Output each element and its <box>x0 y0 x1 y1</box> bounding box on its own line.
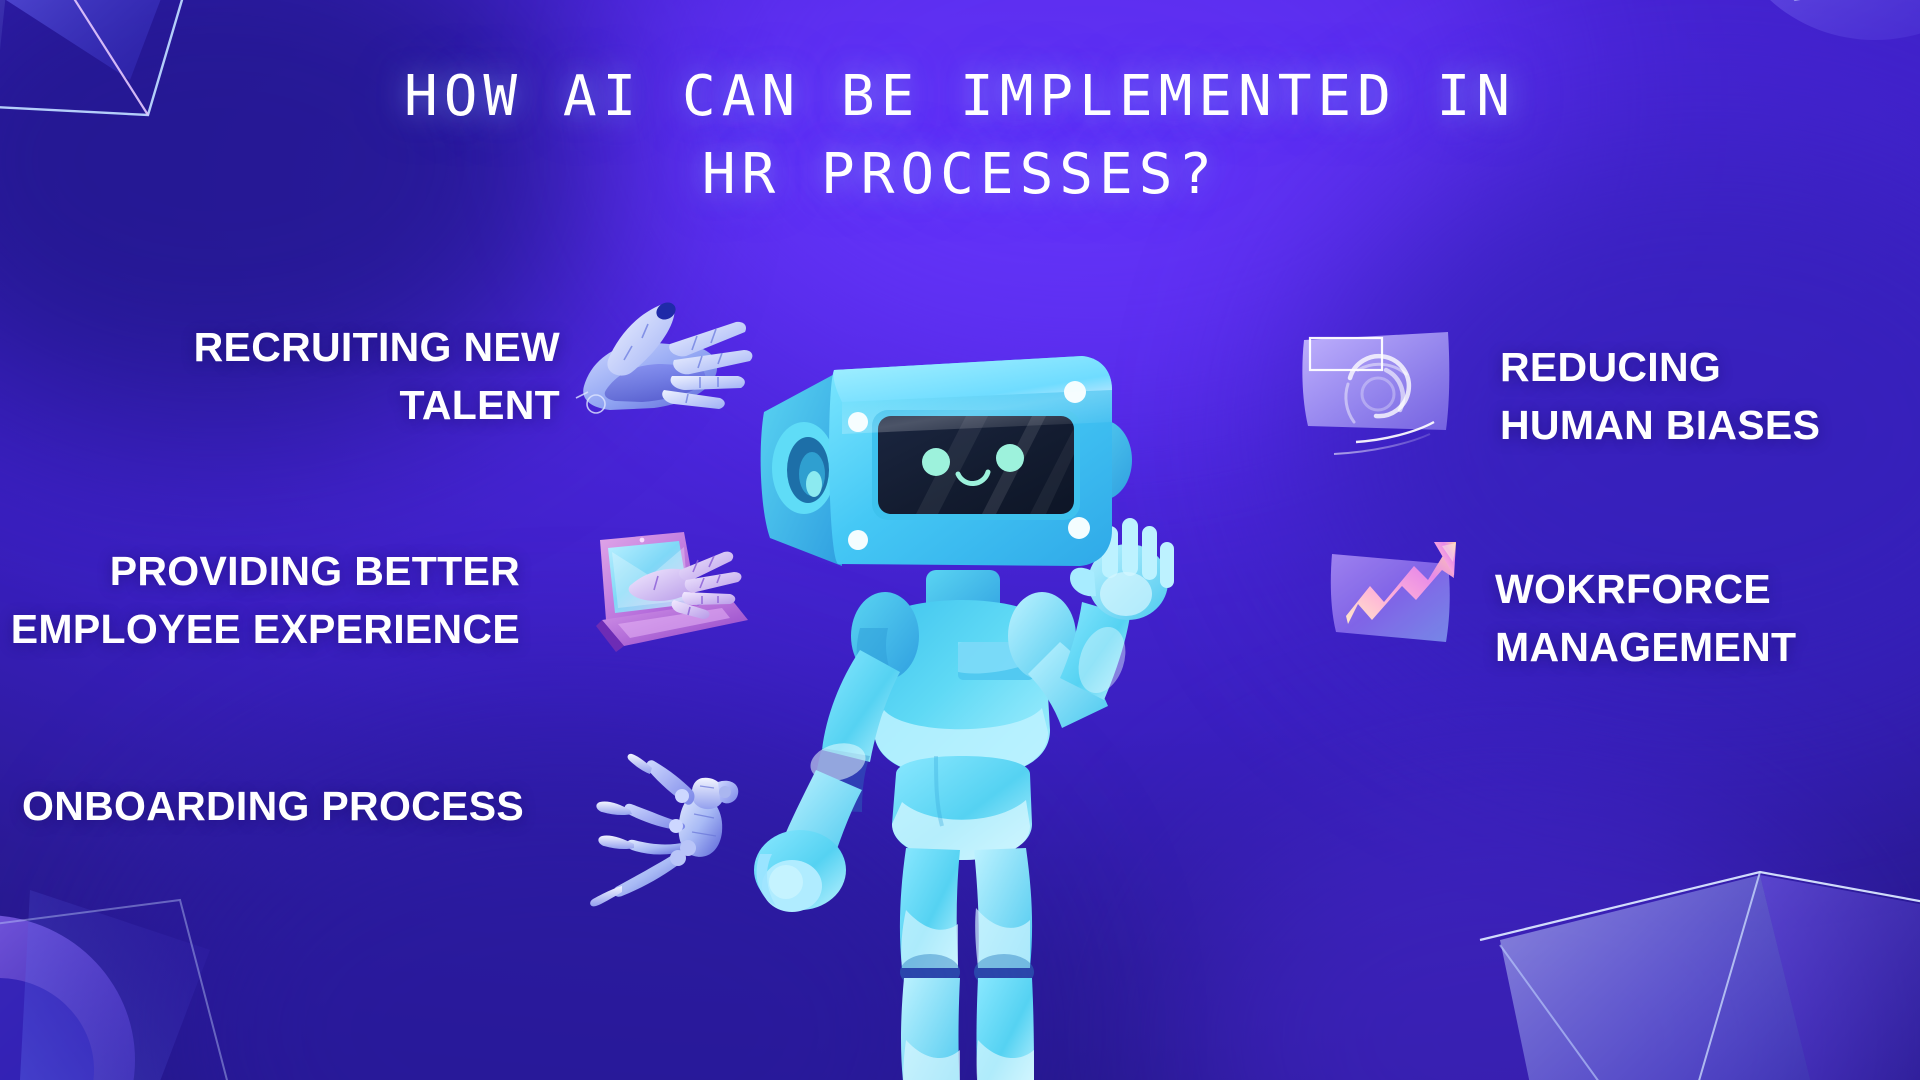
robot-illustration <box>730 350 1200 1080</box>
decoration-bottom-left <box>0 830 320 1080</box>
growth-arrow-chart-icon <box>1322 540 1482 672</box>
background-glow-bottom-right <box>1160 780 1860 1080</box>
page-title: HOW AI CAN BE IMPLEMENTED IN HR PROCESSE… <box>0 58 1920 214</box>
scanner-panel-icon <box>1290 330 1462 462</box>
label-wokrforce-management: WOKRFORCE MANAGEMENT <box>1495 560 1915 676</box>
robotic-hand-icon <box>566 294 756 429</box>
decoration-bottom-right <box>1460 820 1920 1080</box>
poster-canvas: HOW AI CAN BE IMPLEMENTED IN HR PROCESSE… <box>0 0 1920 1080</box>
label-onboarding-process: ONBOARDING PROCESS <box>22 777 642 835</box>
label-recruiting-new-talent: RECRUITING NEW TALENT <box>0 318 560 434</box>
label-providing-better-employee-experience: PROVIDING BETTER EMPLOYEE EXPERIENCE <box>0 542 520 658</box>
laptop-robot-hand-icon <box>572 528 754 660</box>
label-reducing-human-biases: REDUCING HUMAN BIASES <box>1500 338 1920 454</box>
